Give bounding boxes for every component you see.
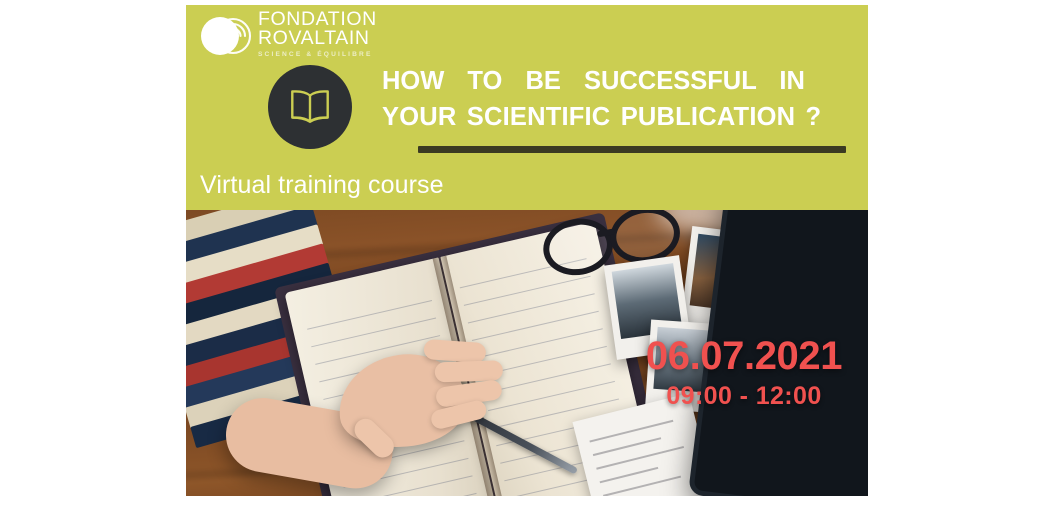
title-line-2: YOUR SCIENTIFIC PUBLICATION ? <box>382 99 858 135</box>
title-underline-rule <box>418 146 846 153</box>
logo-tagline: SCIENCE & ÉQUILIBRE <box>258 51 408 58</box>
poster-banner: FONDATION ROVALTAIN SCIENCE & ÉQUILIBRE … <box>186 5 868 210</box>
event-time: 09:00 - 12:00 <box>626 381 862 411</box>
event-date-block: 06.07.2021 09:00 - 12:00 <box>626 334 862 411</box>
foundation-logo: FONDATION ROVALTAIN SCIENCE & ÉQUILIBRE <box>200 9 405 65</box>
poster-subtitle: Virtual training course <box>200 171 444 200</box>
poster-photo: 06.07.2021 09:00 - 12:00 <box>186 210 868 496</box>
event-poster: FONDATION ROVALTAIN SCIENCE & ÉQUILIBRE … <box>186 5 868 496</box>
title-line-1: HOW TO BE SUCCESSFUL IN <box>382 63 858 99</box>
logo-name-line-2: ROVALTAIN <box>258 29 408 48</box>
poster-title: HOW TO BE SUCCESSFUL IN YOUR SCIENTIFIC … <box>382 63 858 135</box>
event-date: 06.07.2021 <box>626 334 862 378</box>
foundation-logo-text: FONDATION ROVALTAIN SCIENCE & ÉQUILIBRE <box>258 10 408 58</box>
open-book-icon <box>268 65 352 149</box>
fingerprint-circle-logo-icon <box>200 11 252 61</box>
